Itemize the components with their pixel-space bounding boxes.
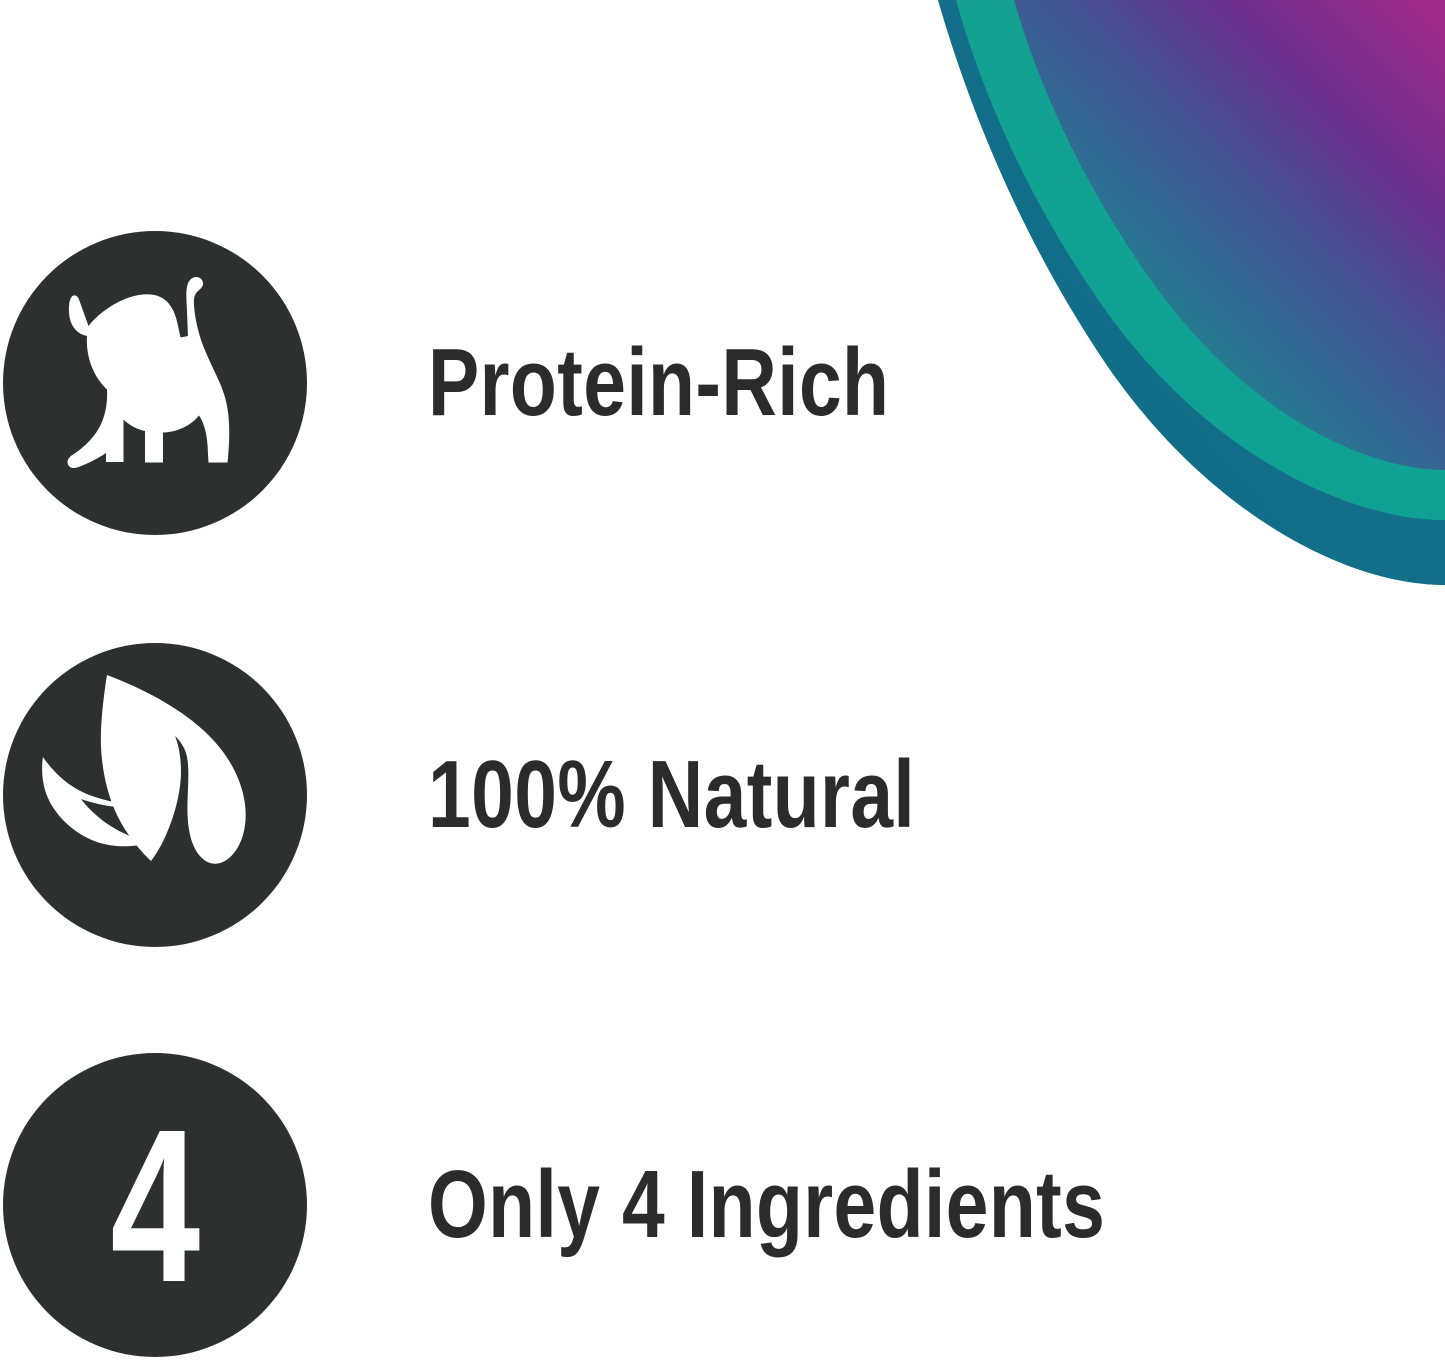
feature-row-natural: 100% Natural — [0, 640, 1200, 950]
feature-benefits-panel: Protein-Rich 100% Natural 4 Only 4 Ingre… — [0, 0, 1445, 1360]
cat-icon — [3, 231, 307, 535]
number-four-icon: 4 — [111, 1098, 199, 1316]
badge-ingredients: 4 — [3, 1053, 307, 1357]
feature-row-protein-rich: Protein-Rich — [0, 228, 1200, 538]
feature-row-ingredients: 4 Only 4 Ingredients — [0, 1050, 1200, 1360]
badge-natural — [3, 643, 307, 947]
feature-label-ingredients: Only 4 Ingredients — [428, 1155, 1105, 1256]
badge-protein-rich — [3, 231, 307, 535]
feature-label-natural: 100% Natural — [428, 745, 915, 846]
leaf-icon — [3, 643, 307, 947]
feature-label-protein-rich: Protein-Rich — [428, 333, 889, 434]
